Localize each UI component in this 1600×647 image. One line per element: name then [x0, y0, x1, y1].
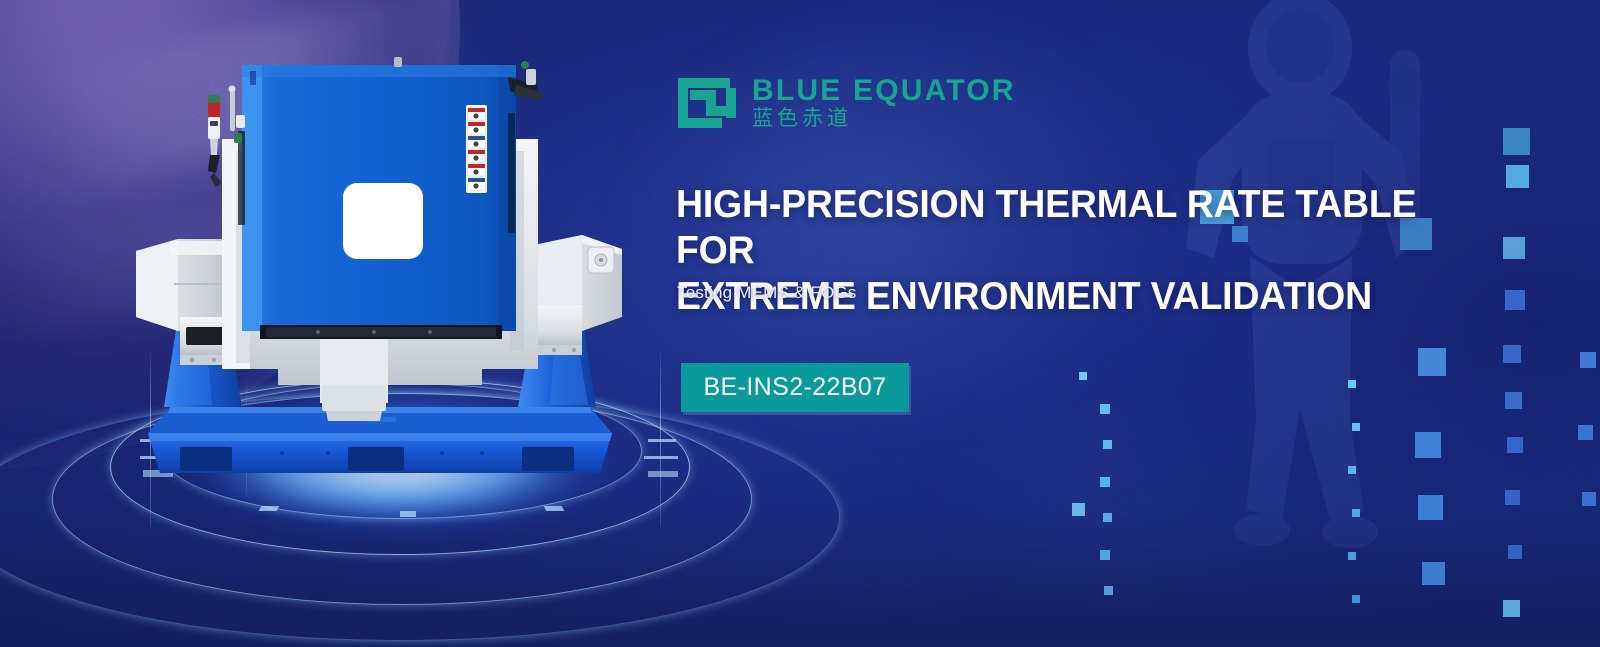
decorative-square — [1580, 352, 1596, 368]
thermal-rate-table-machine-icon — [130, 55, 630, 475]
product-hero-banner: BLUE EQUATOR 蓝色赤道 HIGH-PRECISION THERMAL… — [0, 0, 1600, 647]
brand-logo[interactable]: BLUE EQUATOR 蓝色赤道 — [676, 74, 1016, 132]
headline-line-1: HIGH-PRECISION THERMAL RATE TABLE FOR — [676, 183, 1416, 272]
decorative-square — [1578, 425, 1593, 440]
brand-name-chinese: 蓝色赤道 — [752, 107, 1016, 131]
subtitle: Testing MEMS & FOGs — [677, 283, 857, 303]
banner-content: BLUE EQUATOR 蓝色赤道 HIGH-PRECISION THERMAL… — [676, 0, 1556, 647]
brand-logo-text: BLUE EQUATOR 蓝色赤道 — [752, 75, 1016, 132]
blue-equator-monogram-icon — [676, 74, 738, 132]
model-code-badge[interactable]: BE-INS2-22B07 — [681, 363, 909, 412]
brand-name: BLUE EQUATOR — [752, 75, 1016, 107]
decorative-square — [1582, 492, 1596, 506]
model-code-label: BE-INS2-22B07 — [703, 373, 886, 402]
